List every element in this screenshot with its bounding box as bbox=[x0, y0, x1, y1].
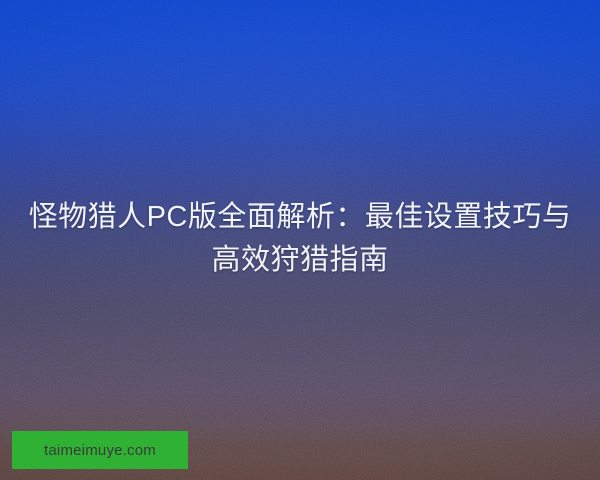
headline-text: 怪物猎人PC版全面解析：最佳设置技巧与高效狩猎指南 bbox=[29, 201, 572, 276]
watermark-badge: taimeimuye.com bbox=[12, 431, 188, 469]
banner-image: 怪物猎人PC版全面解析：最佳设置技巧与高效狩猎指南 taimeimuye.com bbox=[0, 0, 600, 480]
banner-headline: 怪物猎人PC版全面解析：最佳设置技巧与高效狩猎指南 bbox=[0, 196, 600, 282]
watermark-label: taimeimuye.com bbox=[44, 443, 156, 458]
